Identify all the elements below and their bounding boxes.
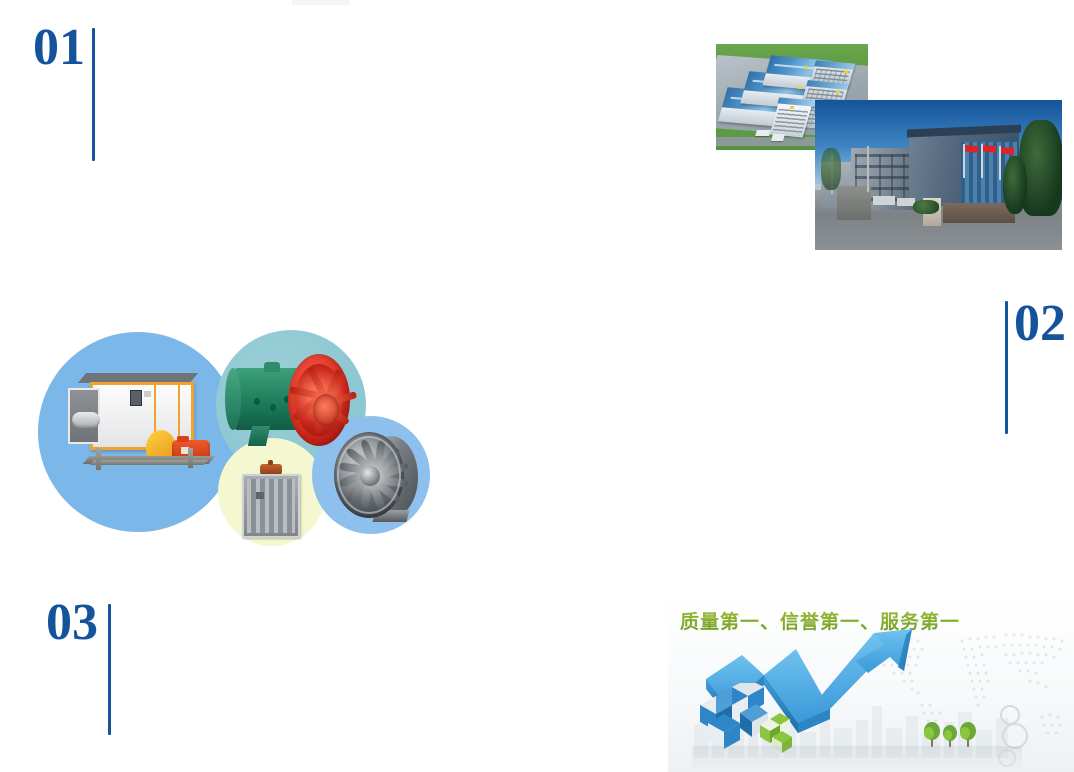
office-building-image	[815, 100, 1062, 250]
damper-body	[242, 474, 300, 538]
top-edge-artifact	[292, 0, 350, 5]
section-number-02: 02	[1014, 298, 1066, 350]
fan-blade	[373, 447, 401, 480]
section-rule-01	[92, 28, 95, 161]
metal-axial-fan	[330, 428, 430, 528]
fan-hub	[360, 466, 380, 486]
tree-icons	[924, 715, 980, 749]
fan-blade	[360, 474, 373, 511]
product-collage	[30, 320, 430, 560]
yard-wall	[943, 203, 1015, 223]
rail-leg	[188, 448, 193, 468]
fan-blade	[345, 470, 373, 503]
fan-blade	[360, 439, 381, 475]
control-box	[130, 390, 142, 406]
fan-blade	[337, 462, 374, 475]
roof-marker	[844, 70, 848, 73]
shrub	[913, 200, 939, 214]
section-rule-03	[108, 604, 111, 735]
guard-house	[837, 186, 871, 220]
fan-ring	[334, 432, 404, 518]
flag-pole	[999, 146, 1001, 180]
impeller-hub	[313, 394, 339, 426]
fan-blade	[366, 475, 387, 511]
fan-blade	[337, 468, 373, 489]
terminal-box	[264, 362, 280, 372]
roof-marker	[798, 86, 802, 89]
roof-marker	[790, 106, 794, 109]
roof-marker	[804, 66, 808, 69]
parked-car	[873, 196, 895, 205]
section-rule-02	[1005, 301, 1008, 434]
fan-blade	[372, 475, 409, 488]
section-number-03: 03	[46, 597, 98, 649]
roof-marker	[836, 90, 840, 93]
damper-blades	[247, 479, 295, 533]
flag-pole	[963, 144, 965, 178]
rail-leg	[96, 448, 101, 470]
casing-bolt	[270, 404, 276, 411]
name-plate	[144, 391, 151, 397]
impeller	[72, 412, 100, 428]
office-windows	[772, 109, 808, 135]
truck	[771, 134, 785, 141]
light-pole	[867, 146, 869, 192]
fan-blade	[368, 475, 401, 503]
fan-blade	[373, 439, 386, 476]
page-canvas: 01 02	[0, 0, 1074, 772]
damper-label	[256, 492, 264, 499]
cabinet-centrifugal-fan	[68, 360, 220, 490]
fire-damper	[236, 460, 308, 542]
casing-bolt	[254, 398, 260, 405]
tree	[1003, 156, 1027, 214]
quality-slogan-banner: 质量第一、信誉第一、服务第一	[668, 597, 1074, 772]
impeller-inner	[295, 364, 343, 436]
decorative-ring	[1000, 705, 1020, 725]
flag-pole	[981, 144, 983, 178]
mounting-foot	[248, 426, 270, 446]
fan-blade	[345, 447, 378, 475]
shrub	[821, 148, 841, 190]
inlet-opening	[68, 388, 100, 444]
section-number-01: 01	[33, 22, 85, 74]
floor-reflection	[692, 746, 1022, 772]
truck	[755, 130, 771, 136]
